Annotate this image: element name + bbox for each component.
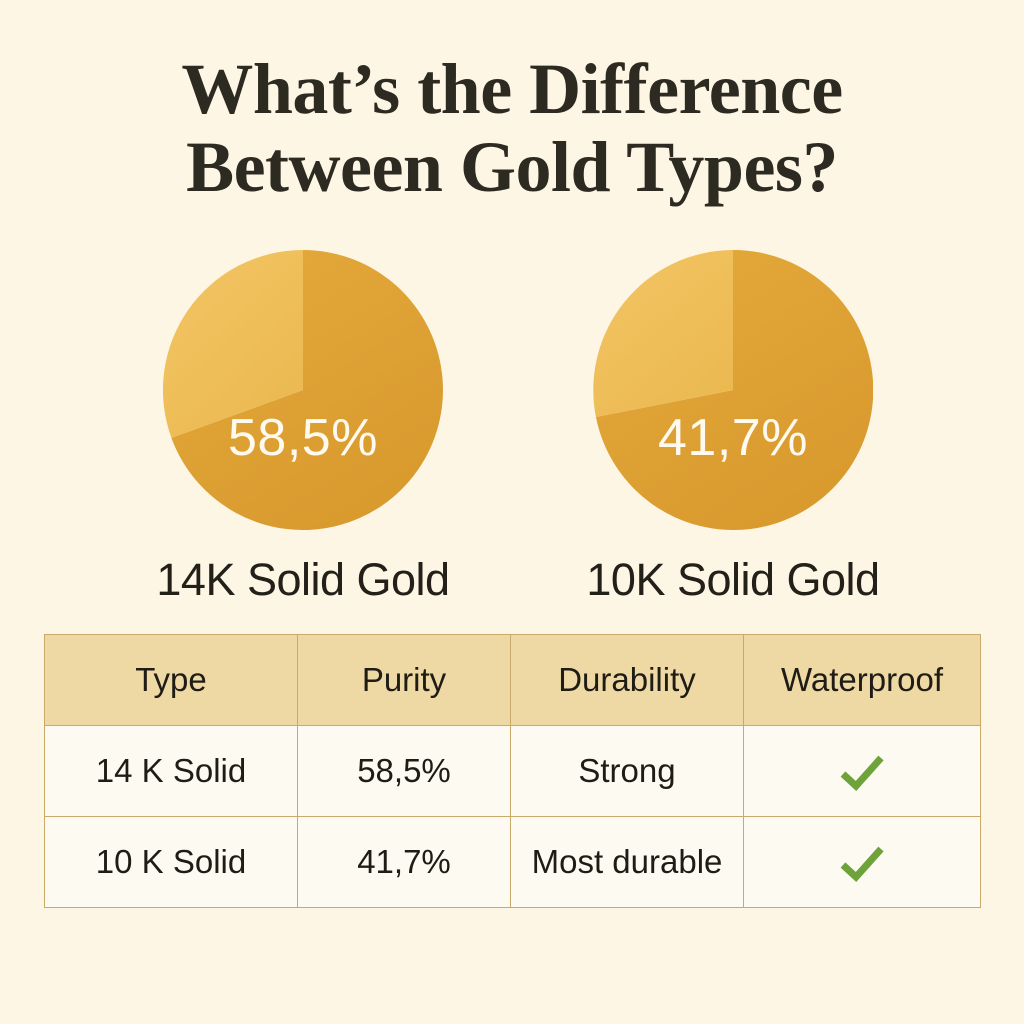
comparison-table: Type Purity Durability Waterproof 14 K S… — [44, 634, 981, 908]
page-title-line-2: Between Gold Types? — [0, 128, 1024, 206]
gold-types-infographic: What’s the Difference Between Gold Types… — [0, 0, 1024, 1024]
pie-chart-10k: 41,7% 10K Solid Gold — [563, 250, 903, 606]
cell-waterproof-14k — [744, 726, 981, 817]
comparison-table-wrapper: Type Purity Durability Waterproof 14 K S… — [44, 634, 980, 908]
table-header: Type Purity Durability Waterproof — [45, 635, 981, 726]
page-title: What’s the Difference Between Gold Types… — [0, 50, 1024, 206]
cell-purity-10k: 41,7% — [298, 817, 511, 908]
cell-durability-14k: Strong — [511, 726, 744, 817]
pie-10k-svg — [593, 250, 873, 530]
table-row: 10 K Solid 41,7% Most durable — [45, 817, 981, 908]
cell-durability-10k: Most durable — [511, 817, 744, 908]
pie-10k-caption: 10K Solid Gold — [563, 554, 903, 606]
pie-chart-14k-graphic: 58,5% — [163, 250, 443, 530]
column-header-durability: Durability — [511, 635, 744, 726]
cell-type-10k: 10 K Solid — [45, 817, 298, 908]
pie-chart-10k-graphic: 41,7% — [593, 250, 873, 530]
cell-type-14k: 14 K Solid — [45, 726, 298, 817]
pie-14k-svg — [163, 250, 443, 530]
pie-chart-section: 58,5% 14K Solid Gold — [0, 250, 1024, 610]
cell-waterproof-10k — [744, 817, 981, 908]
pie-chart-14k: 58,5% 14K Solid Gold — [133, 250, 473, 606]
table-body: 14 K Solid 58,5% Strong 10 K Solid 41,7% — [45, 726, 981, 908]
check-icon — [839, 753, 885, 791]
column-header-purity: Purity — [298, 635, 511, 726]
pie-14k-caption: 14K Solid Gold — [133, 554, 473, 606]
table-header-row: Type Purity Durability Waterproof — [45, 635, 981, 726]
pie-10k-value-label: 41,7% — [593, 408, 873, 468]
column-header-type: Type — [45, 635, 298, 726]
pie-10k-slice-alloy — [593, 250, 733, 417]
table-row: 14 K Solid 58,5% Strong — [45, 726, 981, 817]
check-icon — [839, 844, 885, 882]
column-header-waterproof: Waterproof — [744, 635, 981, 726]
pie-14k-value-label: 58,5% — [163, 408, 443, 468]
page-title-line-1: What’s the Difference — [0, 50, 1024, 128]
cell-purity-14k: 58,5% — [298, 726, 511, 817]
